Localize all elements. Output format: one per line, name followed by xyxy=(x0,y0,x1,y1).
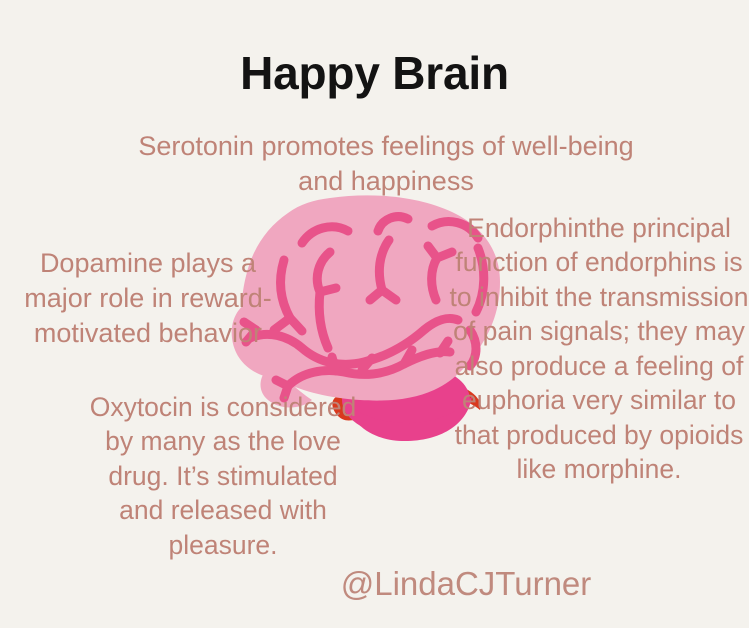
dopamine-note: Dopamine plays a major role in reward-mo… xyxy=(10,246,286,351)
poster-canvas: Happy Brain Serotonin promotes feelings … xyxy=(0,0,749,628)
serotonin-note: Serotonin promotes feelings of well-bein… xyxy=(128,129,644,199)
oxytocin-note: Oxytocin is considered by many as the lo… xyxy=(84,390,362,562)
page-title: Happy Brain xyxy=(0,47,749,100)
author-handle: @LindaCJTurner xyxy=(306,564,626,604)
endorphin-note: Endorphinthe principal function of endor… xyxy=(449,211,749,487)
